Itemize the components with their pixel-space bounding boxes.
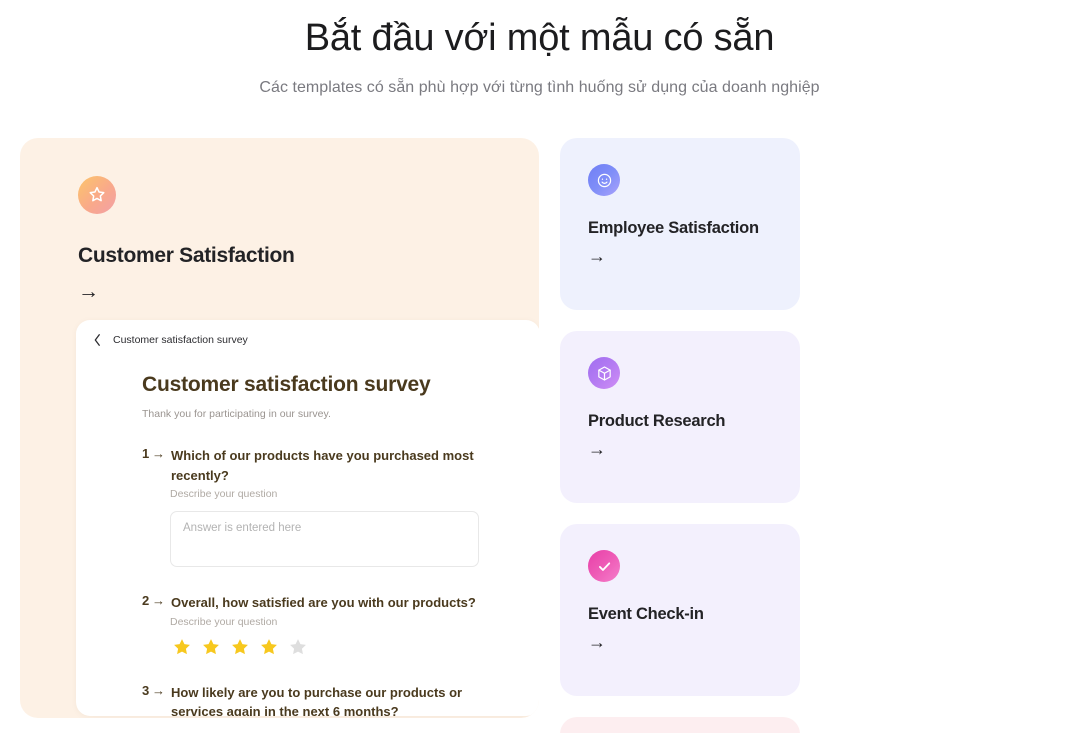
- page-subtitle: Các templates có sẵn phù hợp với từng tì…: [0, 79, 1079, 97]
- smiley-icon: [588, 164, 620, 196]
- star-rating-control[interactable]: [172, 637, 516, 657]
- star-filled-icon[interactable]: [201, 637, 221, 657]
- check-circle-icon: [588, 550, 620, 582]
- survey-heading: Customer satisfaction survey: [142, 373, 516, 397]
- question-marker-icon: →: [152, 683, 165, 717]
- template-card-title: Employee Satisfaction: [588, 217, 800, 240]
- star-filled-icon[interactable]: [172, 637, 192, 657]
- featured-template-card-customer-satisfaction[interactable]: Customer Satisfaction → Customer satisfa…: [20, 138, 539, 718]
- star-empty-icon[interactable]: [288, 637, 308, 657]
- arrow-right-icon: →: [78, 281, 539, 302]
- arrow-right-icon: →: [588, 247, 800, 265]
- arrow-right-icon: →: [588, 633, 800, 651]
- survey-intro-text: Thank you for participating in our surve…: [142, 408, 516, 420]
- survey-breadcrumb: Customer satisfaction survey: [113, 334, 248, 346]
- survey-preview-topbar: Customer satisfaction survey: [76, 320, 539, 359]
- survey-question-2: 2 → Overall, how satisfied are you with …: [142, 593, 516, 657]
- question-marker-icon: →: [152, 446, 165, 485]
- template-card-product-research[interactable]: Product Research →: [560, 331, 800, 503]
- star-filled-icon[interactable]: [230, 637, 250, 657]
- template-card-title: Event Check-in: [588, 603, 800, 626]
- template-cards-column: Employee Satisfaction → Product Research…: [560, 138, 1060, 733]
- page-header: Bắt đầu với một mẫu có sẵn Các templates…: [0, 0, 1079, 97]
- survey-question-3: 3 → How likely are you to purchase our p…: [142, 683, 516, 717]
- question-hint: Describe your question: [170, 488, 516, 500]
- template-gallery-page: Bắt đầu với một mẫu có sẵn Các templates…: [0, 0, 1079, 733]
- featured-card-title: Customer Satisfaction: [78, 244, 539, 268]
- chevron-left-icon[interactable]: [92, 333, 103, 347]
- page-title: Bắt đầu với một mẫu có sẵn: [0, 14, 1079, 63]
- question-text: Which of our products have you purchased…: [171, 446, 516, 485]
- question-marker-icon: →: [152, 593, 165, 613]
- answer-input[interactable]: Answer is entered here: [170, 511, 479, 567]
- template-grid: Customer Satisfaction → Customer satisfa…: [20, 138, 1060, 733]
- survey-question-1: 1 → Which of our products have you purch…: [142, 446, 516, 567]
- arrow-right-icon: →: [588, 440, 800, 458]
- star-filled-icon[interactable]: [259, 637, 279, 657]
- template-card-title: Product Research: [588, 410, 800, 433]
- template-card-event-check-in[interactable]: Event Check-in →: [560, 524, 800, 696]
- cube-icon: [588, 357, 620, 389]
- question-hint: Describe your question: [170, 616, 516, 628]
- featured-column: Customer Satisfaction → Customer satisfa…: [20, 138, 539, 733]
- template-card-employee-satisfaction[interactable]: Employee Satisfaction →: [560, 138, 800, 310]
- star-icon: [78, 176, 116, 214]
- template-card-net-promoter-score[interactable]: Net Promoter® Score →: [560, 717, 800, 733]
- question-text: How likely are you to purchase our produ…: [171, 683, 516, 717]
- featured-card-header: Customer Satisfaction →: [20, 138, 539, 302]
- survey-preview-panel: Customer satisfaction survey Customer sa…: [76, 320, 539, 716]
- survey-preview-body: Customer satisfaction survey Thank you f…: [76, 359, 539, 716]
- question-text: Overall, how satisfied are you with our …: [171, 593, 476, 613]
